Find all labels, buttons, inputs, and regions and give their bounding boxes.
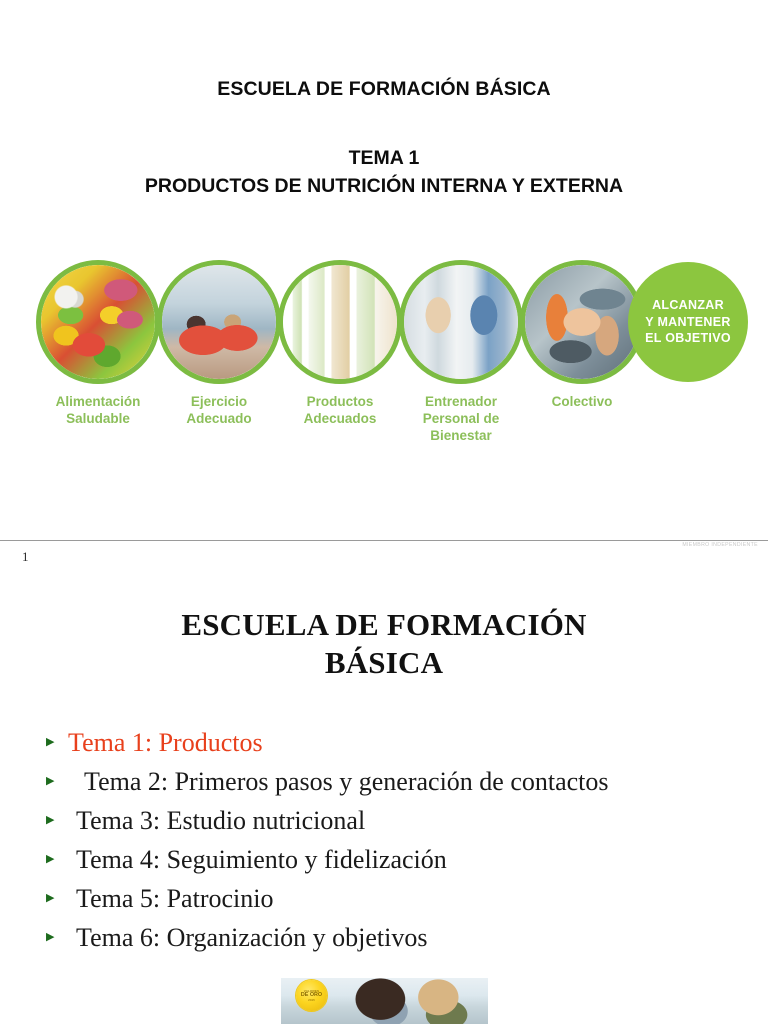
hands-photo: [525, 265, 639, 379]
list-item-label-tema-5: Tema 5: Patrocinio: [68, 881, 740, 918]
step-circle-alimentacion: [36, 260, 160, 384]
salad-photo: [41, 265, 155, 379]
page-number: 1: [22, 549, 29, 565]
topic-number: TEMA 1: [0, 144, 768, 172]
slide-1-title-block: ESCUELA DE FORMACIÓN BÁSICA TEMA 1 PRODU…: [0, 78, 768, 201]
list-item[interactable]: ▶ Tema 4: Seguimiento y fidelización: [34, 842, 740, 879]
slide-2-heading-line-1: ESCUELA DE FORMACIÓN: [0, 606, 768, 644]
list-item-label-tema-3: Tema 3: Estudio nutricional: [68, 803, 740, 840]
topic-subtitle: PRODUCTOS DE NUTRICIÓN INTERNA Y EXTERNA: [0, 172, 768, 200]
triangle-bullet-icon: ▶: [34, 881, 68, 904]
title-spacer: [0, 101, 768, 144]
member-independent-tag: MIEMBRO INDEPENDIENTE: [682, 542, 758, 548]
list-item[interactable]: ▶ Tema 2: Primeros pasos y generación de…: [34, 764, 740, 801]
triangle-bullet-icon: ▶: [34, 725, 68, 748]
goal-line-2: Y MANTENER: [645, 314, 730, 331]
step-label-colectivo: Colectivo: [504, 394, 660, 411]
wellness-process-graphic: Alimentación Saludable Ejercicio Adecuad…: [28, 252, 748, 452]
slide-page: ESCUELA DE FORMACIÓN BÁSICA TEMA 1 PRODU…: [0, 0, 768, 1024]
step-circle-ejercicio: [157, 260, 281, 384]
list-item-label-tema-4: Tema 4: Seguimiento y fidelización: [68, 842, 740, 879]
slide-2-heading-line-2: BÁSICA: [0, 644, 768, 682]
list-item[interactable]: ▶ Tema 6: Organización y objetivos: [34, 920, 740, 957]
list-item[interactable]: ▶ Tema 5: Patrocinio: [34, 881, 740, 918]
triangle-bullet-icon: ▶: [34, 842, 68, 865]
gold-seal-icon: VALORES DE ORO 2015: [296, 980, 327, 1011]
step-label-entrenador-l3: Bienestar: [383, 428, 539, 445]
step-label-entrenador-l2: Personal de: [383, 411, 539, 428]
list-item-label-tema-2: Tema 2: Primeros pasos y generación de c…: [68, 764, 740, 801]
slide-divider: [0, 540, 768, 541]
step-circle-colectivo: [520, 260, 644, 384]
products-photo: [283, 265, 397, 379]
seal-line-3: 2015: [308, 998, 315, 1002]
slide-2-heading: ESCUELA DE FORMACIÓN BÁSICA: [0, 606, 768, 682]
triangle-bullet-icon: ▶: [34, 920, 68, 943]
slide-2: ESCUELA DE FORMACIÓN BÁSICA ▶ Tema 1: Pr…: [0, 570, 768, 1024]
list-item[interactable]: ▶ Tema 1: Productos: [34, 725, 740, 762]
goal-line-3: EL OBJETIVO: [645, 330, 731, 347]
exercise-photo: [162, 265, 276, 379]
list-item[interactable]: ▶ Tema 3: Estudio nutricional: [34, 803, 740, 840]
triangle-bullet-icon: ▶: [34, 764, 68, 787]
list-item-label-tema-1: Tema 1: Productos: [68, 725, 740, 762]
page-title: ESCUELA DE FORMACIÓN BÁSICA: [0, 78, 768, 101]
goal-line-1: ALCANZAR: [652, 297, 724, 314]
step-circle-productos: [278, 260, 402, 384]
goal-text: ALCANZAR Y MANTENER EL OBJETIVO: [628, 262, 748, 382]
step-circle-entrenador: [399, 260, 523, 384]
triangle-bullet-icon: ▶: [34, 803, 68, 826]
step-label-colectivo-l1: Colectivo: [504, 394, 660, 411]
goal-circle: ALCANZAR Y MANTENER EL OBJETIVO: [628, 262, 748, 382]
coach-photo: [404, 265, 518, 379]
two-people-photo: VALORES DE ORO 2015: [281, 978, 488, 1024]
topics-list: ▶ Tema 1: Productos ▶ Tema 2: Primeros p…: [34, 725, 740, 958]
slide-1: ESCUELA DE FORMACIÓN BÁSICA TEMA 1 PRODU…: [0, 0, 768, 540]
list-item-label-tema-6: Tema 6: Organización y objetivos: [68, 920, 740, 957]
